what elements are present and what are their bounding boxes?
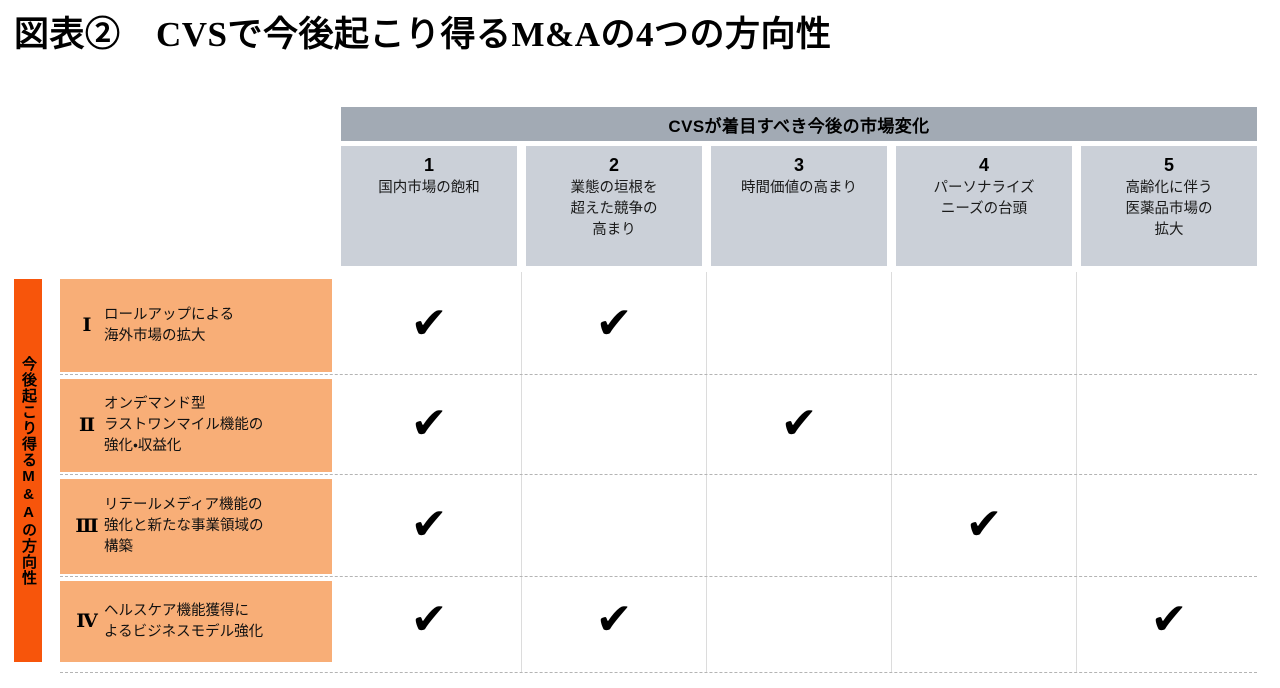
row-header-4: Ⅳヘルスケア機能獲得に よるビジネスモデル強化	[60, 581, 332, 662]
column-label: 時間価値の高まり	[741, 178, 857, 199]
check-icon: ✔	[399, 495, 459, 555]
column-number: 2	[609, 154, 619, 176]
column-label: 高齢化に伴う 医薬品市場の 拡大	[1126, 178, 1213, 241]
column-header-5: 5高齢化に伴う 医薬品市場の 拡大	[1081, 146, 1257, 266]
column-header-3: 3時間価値の高まり	[711, 146, 887, 266]
column-header-2: 2業態の垣根を 超えた競争の 高まり	[526, 146, 702, 266]
column-label: 国内市場の飽和	[378, 178, 480, 199]
row-numeral: Ⅳ	[70, 610, 104, 633]
row-numeral: Ⅰ	[70, 314, 104, 337]
column-label: 業態の垣根を 超えた競争の 高まり	[571, 178, 658, 241]
row-label: ロールアップによる 海外市場の拡大	[104, 305, 234, 347]
column-number: 3	[794, 154, 804, 176]
column-number: 4	[979, 154, 989, 176]
matrix-diagram: CVSが着目すべき今後の市場変化 1国内市場の飽和2業態の垣根を 超えた競争の …	[0, 0, 1280, 688]
check-icon: ✔	[769, 394, 829, 454]
check-icon: ✔	[1139, 590, 1199, 650]
grid-hline-1	[60, 374, 1257, 375]
column-number: 1	[424, 154, 434, 176]
row-group-header-label: 今後起こり得るM&Aの方向性	[14, 279, 42, 662]
check-icon: ✔	[399, 394, 459, 454]
grid-hline-2	[60, 474, 1257, 475]
grid-vline-1	[521, 272, 522, 672]
check-icon: ✔	[954, 495, 1014, 555]
grid-hline-3	[60, 576, 1257, 577]
row-label: オンデマンド型 ラストワンマイル機能の 強化・収益化	[104, 394, 263, 457]
column-group-header: CVSが着目すべき今後の市場変化	[341, 107, 1257, 141]
row-header-1: Ⅰロールアップによる 海外市場の拡大	[60, 279, 332, 372]
row-label: リテールメディア機能の 強化と新たな事業領域の 構築	[104, 495, 264, 558]
row-header-3: Ⅲリテールメディア機能の 強化と新たな事業領域の 構築	[60, 479, 332, 574]
check-icon: ✔	[399, 294, 459, 354]
check-icon: ✔	[584, 590, 644, 650]
grid-hline-4	[60, 672, 1257, 673]
grid-vline-4	[1076, 272, 1077, 672]
row-numeral: Ⅲ	[70, 515, 104, 538]
row-group-header: 今後起こり得るM&Aの方向性	[14, 279, 42, 662]
row-label: ヘルスケア機能獲得に よるビジネスモデル強化	[104, 601, 263, 643]
check-icon: ✔	[584, 294, 644, 354]
row-header-2: Ⅱオンデマンド型 ラストワンマイル機能の 強化・収益化	[60, 379, 332, 472]
column-header-1: 1国内市場の飽和	[341, 146, 517, 266]
grid-vline-3	[891, 272, 892, 672]
grid-vline-2	[706, 272, 707, 672]
column-number: 5	[1164, 154, 1174, 176]
row-numeral: Ⅱ	[70, 414, 104, 437]
column-header-4: 4パーソナライズ ニーズの台頭	[896, 146, 1072, 266]
check-icon: ✔	[399, 590, 459, 650]
column-label: パーソナライズ ニーズの台頭	[933, 178, 1034, 220]
